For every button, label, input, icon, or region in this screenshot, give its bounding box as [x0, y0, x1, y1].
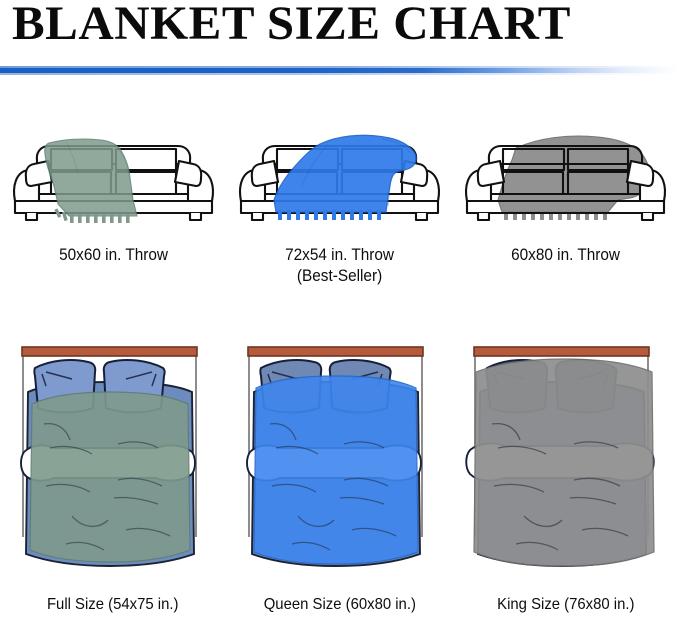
page-title: BLANKET SIZE CHART: [12, 0, 571, 49]
throw-item-72x54: 72x54 in. Throw (Best-Seller): [226, 108, 452, 308]
throw-label-line1: 72x54 in. Throw: [285, 245, 394, 266]
bed-caption: Full Size (54x75 in.): [47, 594, 178, 615]
throw-sizes-row: 50x60 in. Throw: [0, 108, 679, 308]
throw-item-60x80: 60x80 in. Throw: [453, 108, 679, 308]
title-divider: [0, 66, 679, 75]
sofa-with-blanket-icon: [232, 108, 447, 233]
bed-with-blanket-icon: [458, 332, 673, 587]
bed-item-queen: Queen Size (60x80 in.): [226, 332, 452, 622]
bed-with-blanket-icon: [6, 332, 221, 587]
throw-caption: 60x80 in. Throw: [511, 245, 620, 266]
throw-item-50x60: 50x60 in. Throw: [0, 108, 226, 308]
divider-shadow: [0, 73, 679, 75]
bed-with-blanket-icon: [232, 332, 447, 587]
sofa-with-blanket-icon: [458, 108, 673, 233]
throw-label-line2: (Best-Seller): [285, 266, 394, 287]
throw-label-line1: 60x80 in. Throw: [511, 245, 620, 266]
bed-caption: King Size (76x80 in.): [497, 594, 634, 615]
sofa-with-blanket-icon: [6, 108, 221, 233]
throw-caption: 50x60 in. Throw: [59, 245, 168, 266]
bed-label: Queen Size (60x80 in.): [263, 594, 415, 615]
bed-caption: Queen Size (60x80 in.): [263, 594, 415, 615]
bed-label: King Size (76x80 in.): [497, 594, 634, 615]
bed-item-full: Full Size (54x75 in.): [0, 332, 226, 622]
bed-item-king: King Size (76x80 in.): [453, 332, 679, 622]
throw-caption: 72x54 in. Throw (Best-Seller): [285, 245, 394, 287]
bed-label: Full Size (54x75 in.): [47, 594, 178, 615]
header: BLANKET SIZE CHART: [0, 0, 679, 78]
throw-label-line1: 50x60 in. Throw: [59, 245, 168, 266]
bed-sizes-row: Full Size (54x75 in.): [0, 332, 679, 622]
blanket-size-chart-page: { "header": { "title": "BLANKET SIZE CHA…: [0, 0, 679, 622]
